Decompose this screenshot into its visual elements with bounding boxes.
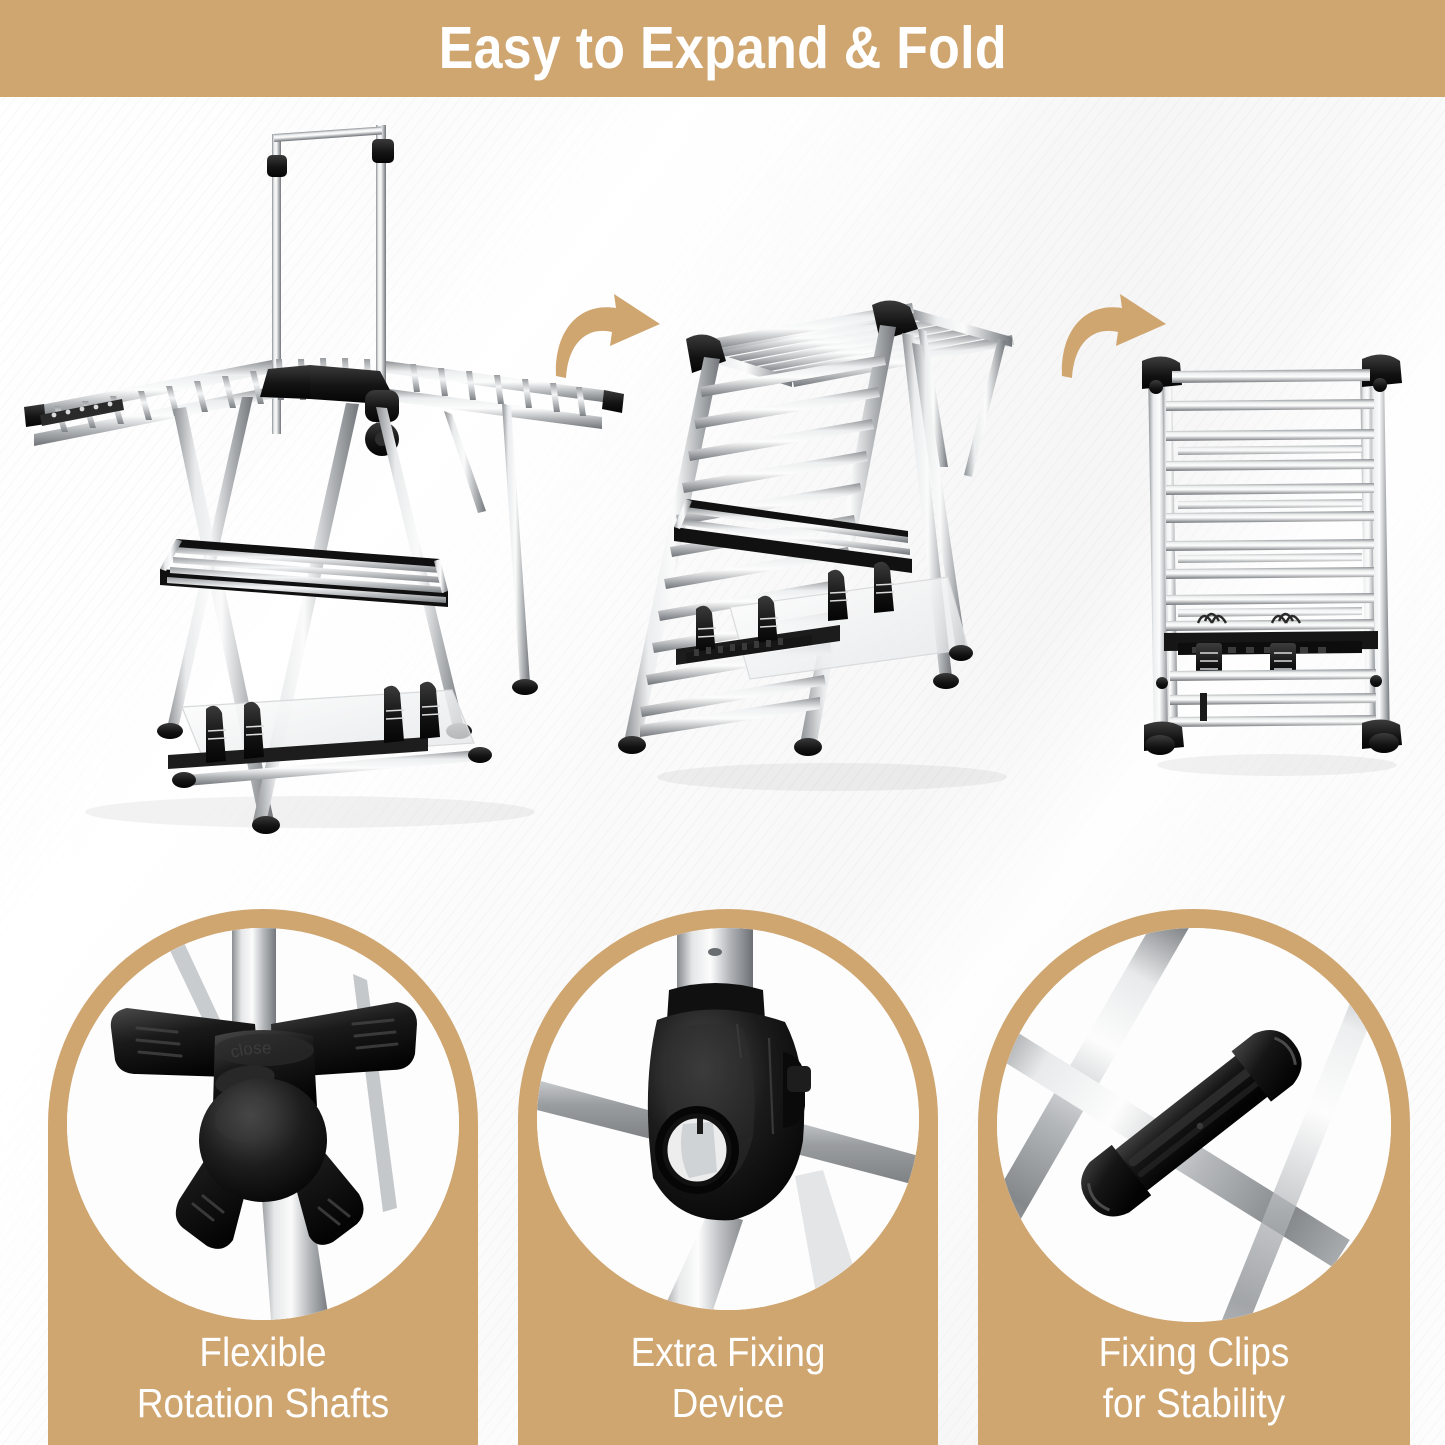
product-image-fully-folded bbox=[1112, 327, 1442, 787]
caption-line-1: Flexible bbox=[79, 1327, 448, 1378]
feature-caption-fixing-clips-for-stability: Fixing Clips for Stability bbox=[1000, 1327, 1389, 1429]
page-title: Easy to Expand & Fold bbox=[438, 19, 1006, 78]
caption-line-2: for Stability bbox=[1009, 1378, 1380, 1429]
feature-photo-fixing-clip bbox=[997, 928, 1391, 1322]
feature-panel-flexible-rotation-shafts[interactable]: close Flexible Rotation Shafts bbox=[48, 909, 478, 1445]
header-banner: Easy to Expand & Fold bbox=[0, 0, 1445, 97]
feature-photo-rotation-hub: close bbox=[67, 928, 459, 1320]
feature-panel-fixing-clips-for-stability[interactable]: Fixing Clips for Stability bbox=[978, 909, 1410, 1445]
feature-panels-row: close Flexible Rotation Shafts bbox=[0, 909, 1445, 1445]
feature-panel-extra-fixing-device[interactable]: Extra Fixing Device bbox=[518, 909, 938, 1445]
caption-line-1: Fixing Clips bbox=[1009, 1327, 1380, 1378]
feature-photo-fixing-device bbox=[537, 928, 919, 1310]
feature-caption-flexible-rotation-shafts: Flexible Rotation Shafts bbox=[70, 1327, 457, 1429]
caption-line-2: Rotation Shafts bbox=[79, 1378, 448, 1429]
product-image-fully-expanded bbox=[10, 107, 630, 897]
product-image-partially-folded bbox=[612, 277, 1052, 807]
infographic-page: Easy to Expand & Fold bbox=[0, 0, 1445, 1445]
caption-line-2: Device bbox=[548, 1378, 908, 1429]
caption-line-1: Extra Fixing bbox=[548, 1327, 908, 1378]
product-states-row bbox=[0, 97, 1445, 909]
feature-caption-extra-fixing-device: Extra Fixing Device bbox=[539, 1327, 917, 1429]
